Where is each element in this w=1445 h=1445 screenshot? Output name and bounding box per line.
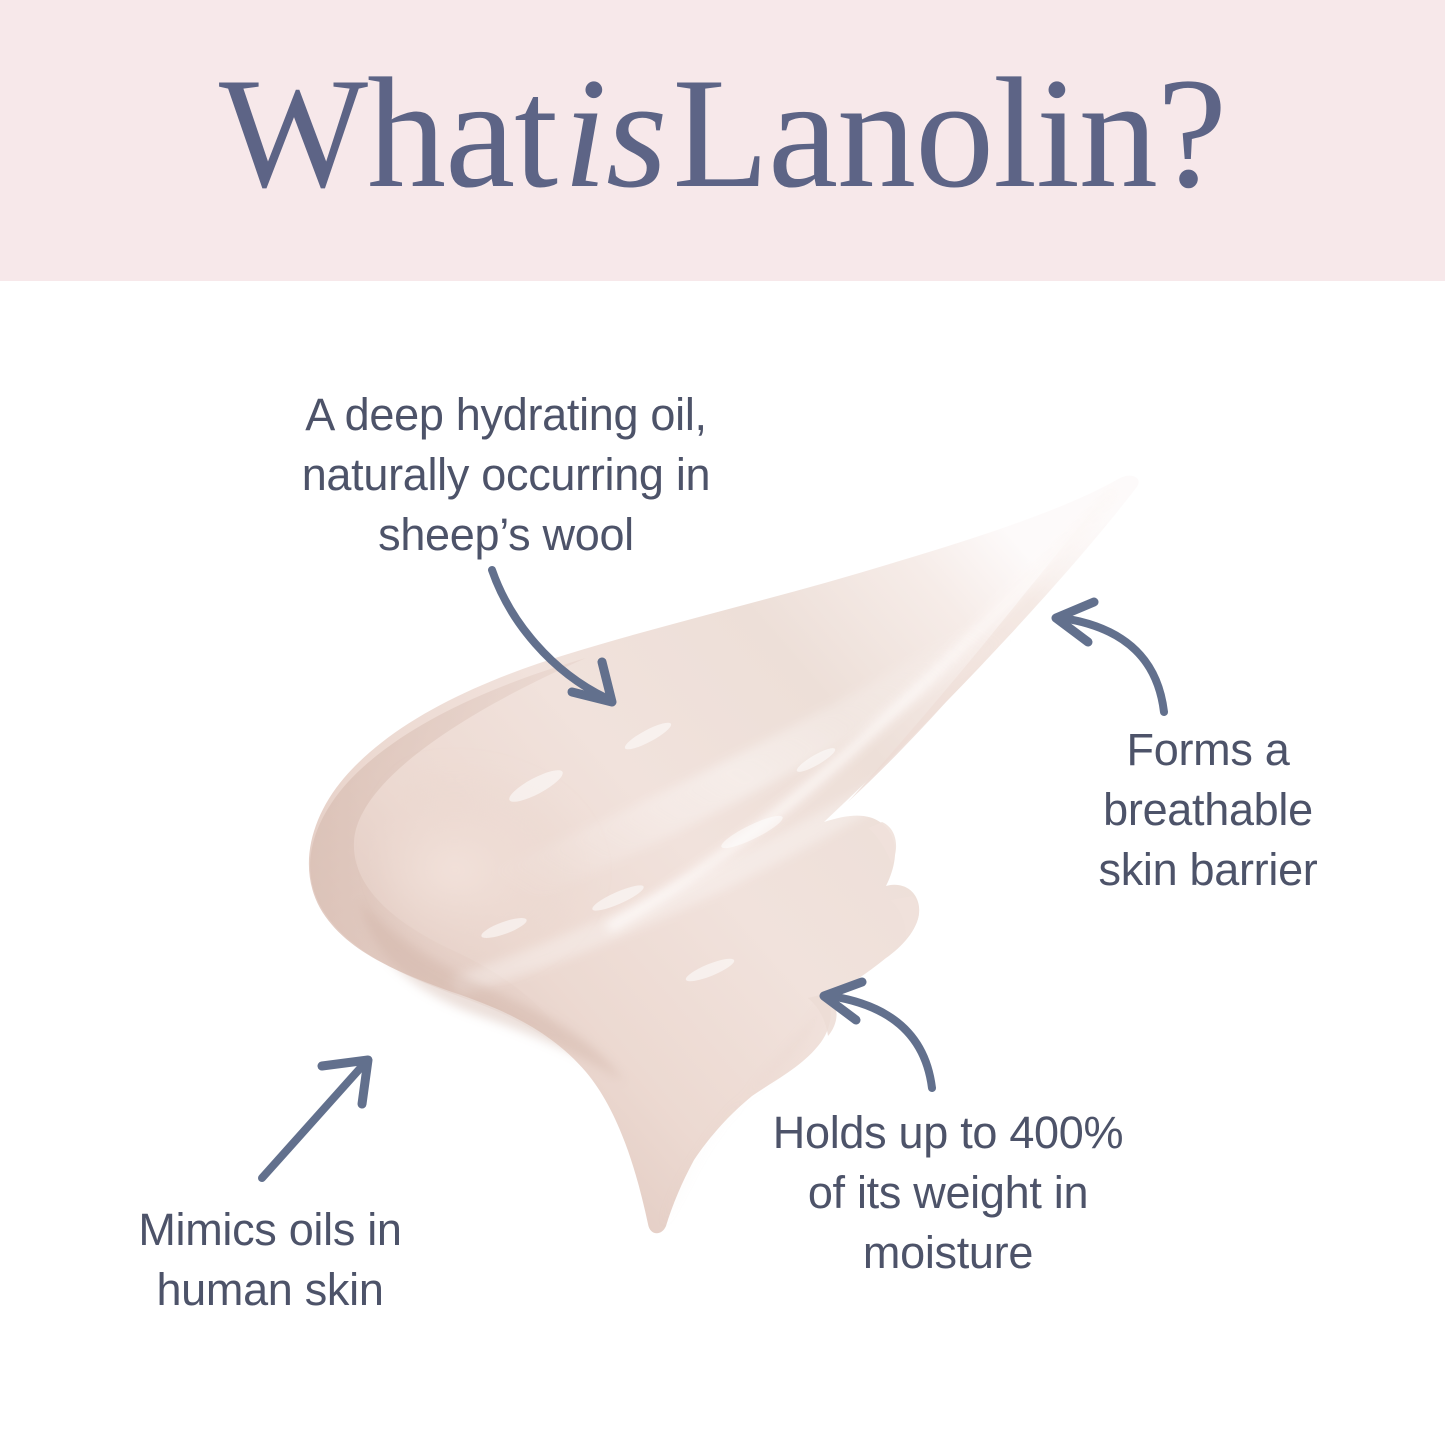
callout-line: skin barrier xyxy=(1028,840,1388,900)
callout-line: A deep hydrating oil, xyxy=(196,385,816,445)
callout-line: human skin xyxy=(70,1260,470,1320)
callout-mimics-skin-oils: Mimics oils in human skin xyxy=(70,1200,470,1320)
callout-moisture-capacity: Holds up to 400% of its weight in moistu… xyxy=(688,1103,1208,1283)
callout-line: moisture xyxy=(688,1223,1208,1283)
callout-hydrating-oil: A deep hydrating oil, naturally occurrin… xyxy=(196,385,816,565)
callout-line: of its weight in xyxy=(688,1163,1208,1223)
callout-skin-barrier: Forms a breathable skin barrier xyxy=(1028,720,1388,900)
callout-line: Forms a xyxy=(1028,720,1388,780)
callout-line: Mimics oils in xyxy=(70,1200,470,1260)
callout-line: Holds up to 400% xyxy=(688,1103,1208,1163)
callout-line: sheep’s wool xyxy=(196,505,816,565)
page-title-suffix: Lanolin? xyxy=(672,55,1226,213)
lanolin-infographic: What is Lanolin? xyxy=(0,0,1445,1445)
page-title-prefix: What xyxy=(219,55,557,213)
page-title-emphasis: is xyxy=(557,55,672,213)
page-title: What is Lanolin? xyxy=(0,0,1445,281)
callout-line: naturally occurring in xyxy=(196,445,816,505)
callout-line: breathable xyxy=(1028,780,1388,840)
